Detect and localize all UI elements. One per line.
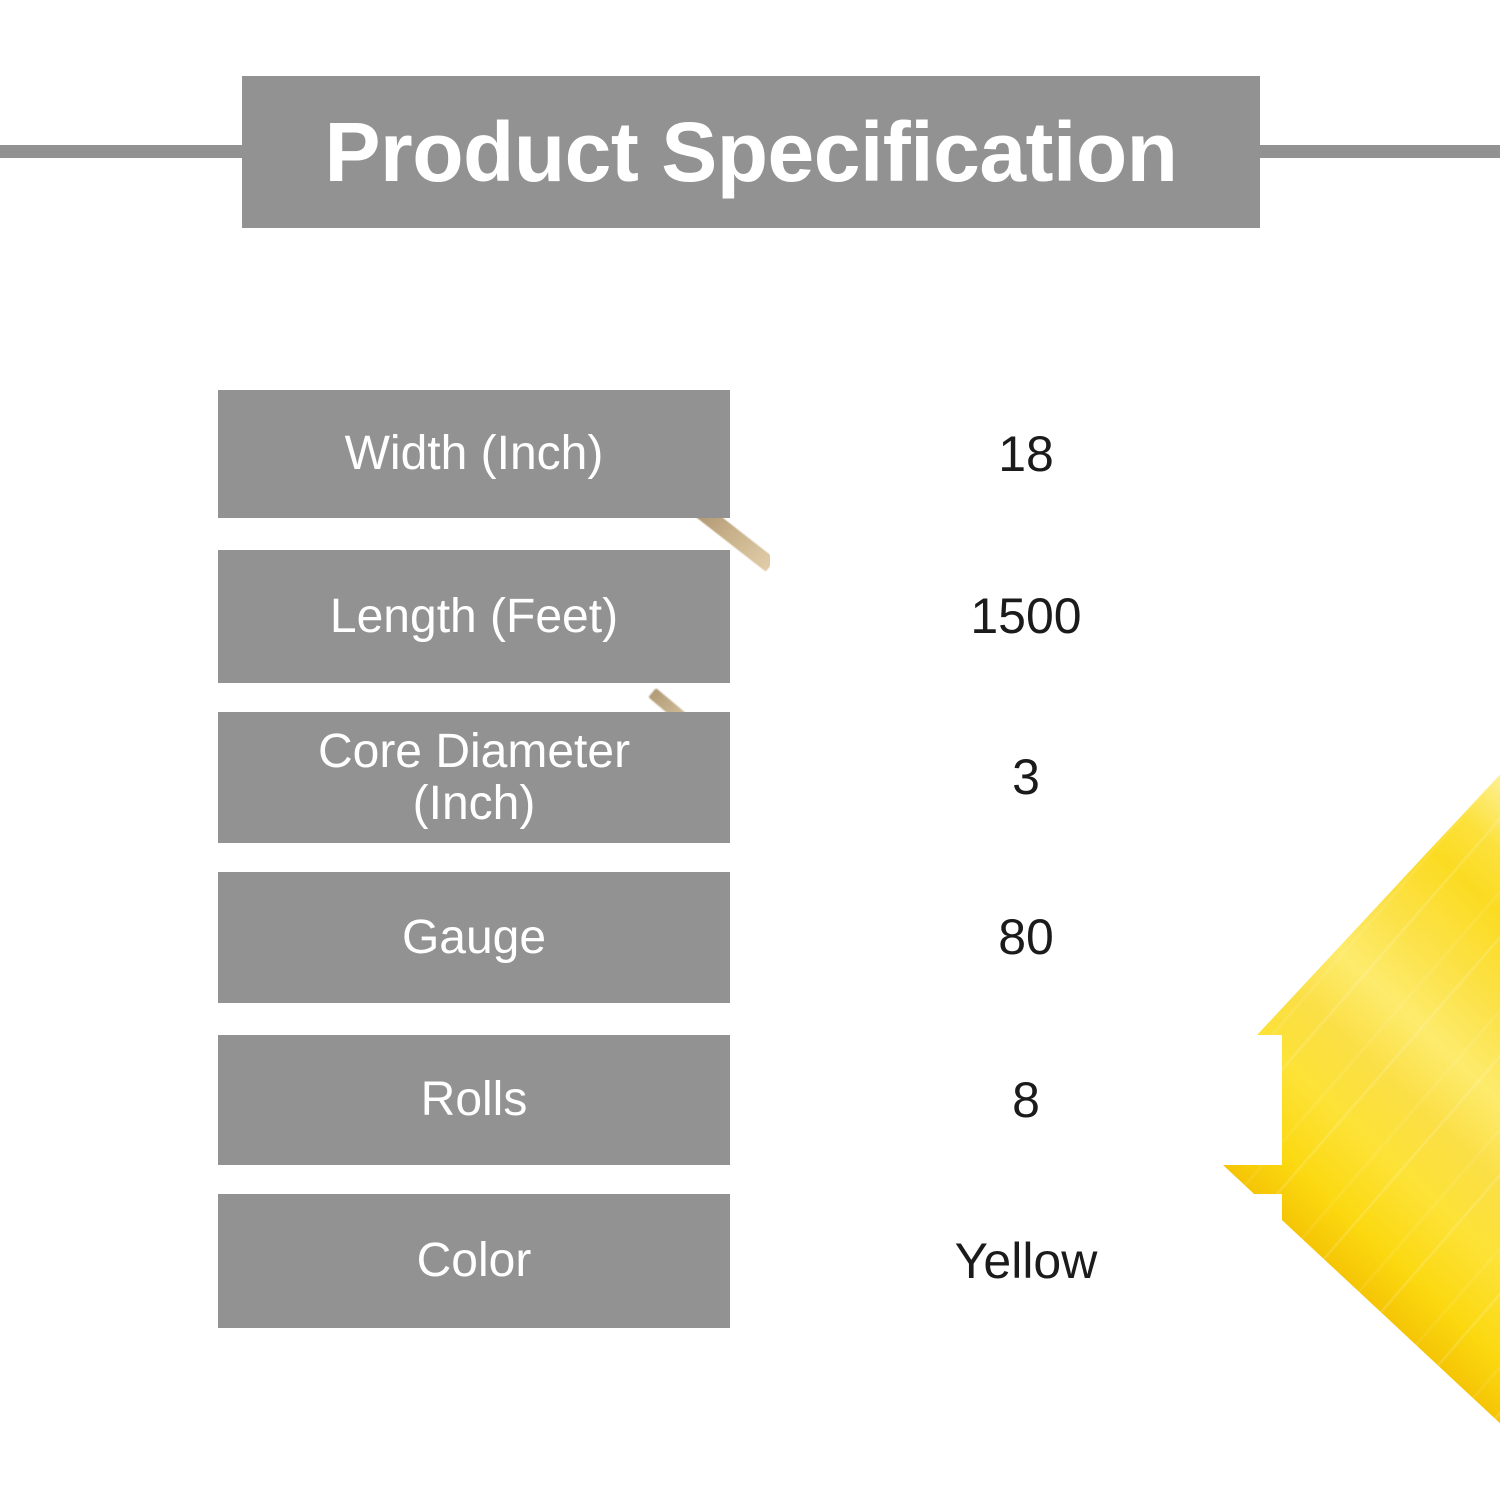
spec-label-cell: Rolls — [218, 1035, 730, 1165]
product-specification-graphic: Product Specification Width (Inch)18Leng… — [0, 0, 1500, 1500]
spec-value-cell: 18 — [770, 390, 1282, 518]
spec-value-cell: 3 — [770, 712, 1282, 843]
table-row: Width (Inch)18 — [0, 390, 1500, 518]
spec-value-cell: 1500 — [770, 550, 1282, 683]
spec-value-cell: 80 — [770, 872, 1282, 1003]
spec-label-cell: Color — [218, 1194, 730, 1328]
table-row: Core Diameter(Inch)3 — [0, 712, 1500, 843]
spec-label-cell: Width (Inch) — [218, 390, 730, 518]
table-row: Gauge80 — [0, 872, 1500, 1003]
spec-label-cell: Core Diameter(Inch) — [218, 712, 730, 843]
table-row: Rolls8 — [0, 1035, 1500, 1165]
table-row: Length (Feet)1500 — [0, 550, 1500, 683]
spec-value-cell: Yellow — [770, 1194, 1282, 1328]
spec-label-cell: Length (Feet) — [218, 550, 730, 683]
spec-value-cell: 8 — [770, 1035, 1282, 1165]
spec-label-cell: Gauge — [218, 872, 730, 1003]
table-row: ColorYellow — [0, 1194, 1500, 1328]
specification-table: Width (Inch)18Length (Feet)1500Core Diam… — [0, 0, 1500, 1500]
